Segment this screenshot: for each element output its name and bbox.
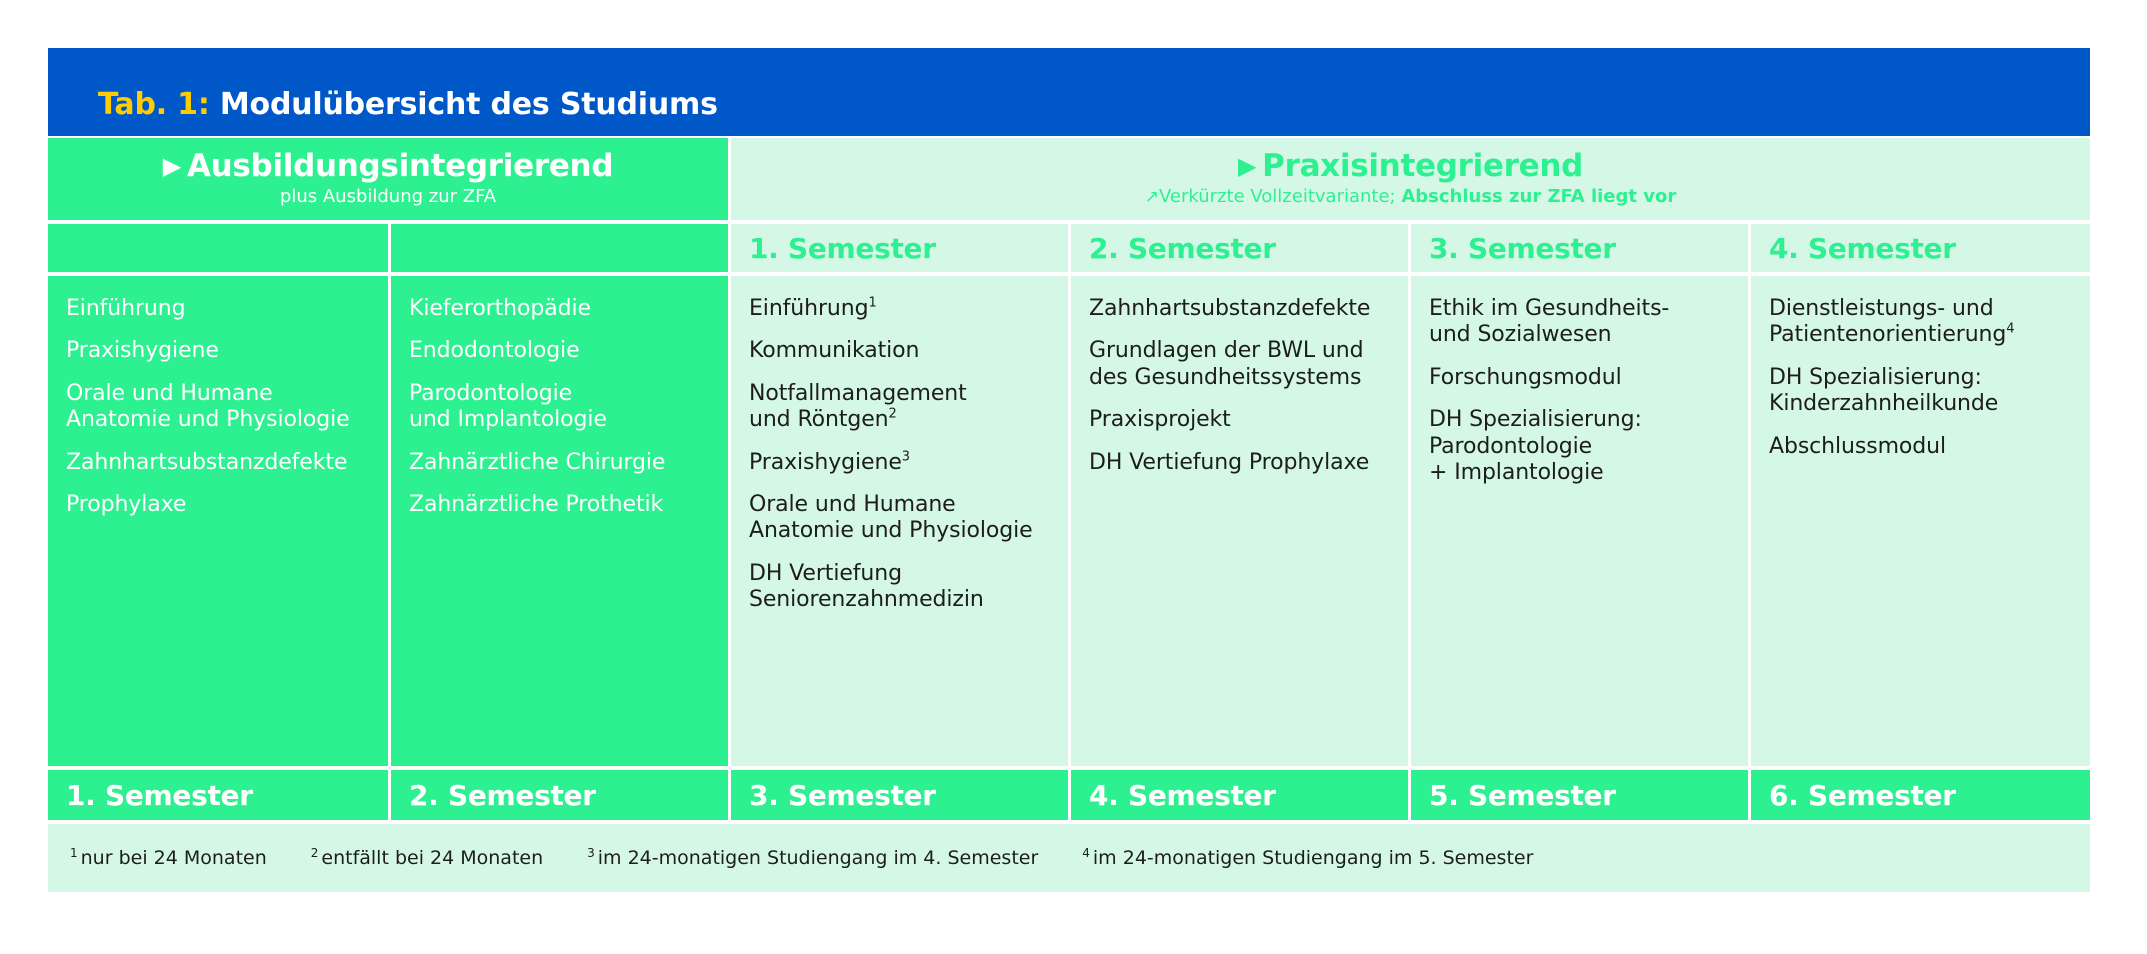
branch-right-subtitle: ↗Verkürzte Vollzeitvariante; Abschluss z… <box>1145 186 1676 208</box>
semester-header-bottom-4: 4. Semester <box>1068 770 1408 820</box>
arrow-northeast-icon: ↗ <box>1145 187 1159 207</box>
table-title-bar: Tab. 1: Modulübersicht des Studiums <box>48 48 2090 136</box>
module-column-5: Ethik im Gesundheits-und SozialwesenFors… <box>1408 276 1748 766</box>
module-item: DH Vertiefung Prophylaxe <box>1089 450 1390 476</box>
branch-left-title: ▶Ausbildungsintegrierend <box>163 150 613 183</box>
module-item: Zahnärztliche Prothetik <box>409 492 710 518</box>
semester-header-bottom-2: 2. Semester <box>388 770 728 820</box>
module-item: Orale und HumaneAnatomie und Physiologie <box>749 492 1050 545</box>
module-item: Kieferorthopädie <box>409 296 710 322</box>
module-item: Einführung1 <box>749 296 1050 322</box>
module-item: Prophylaxe <box>66 492 370 518</box>
branch-ausbildungsintegrierend: ▶Ausbildungsintegrierend plus Ausbildung… <box>48 138 728 220</box>
module-item: DH Spezialisierung:Kinderzahnheilkunde <box>1769 365 2072 418</box>
semester-header-top-4: 2. Semester <box>1068 224 1408 272</box>
module-item: Grundlagen der BWL unddes Gesundheitssys… <box>1089 338 1390 391</box>
footnote-marker: 3 <box>902 449 910 464</box>
module-overview-table: Tab. 1: Modulübersicht des Studiums ▶Aus… <box>48 48 2090 892</box>
module-item: Dienstleistungs- undPatientenorientierun… <box>1769 296 2072 349</box>
semester-header-bottom-6: 6. Semester <box>1748 770 2090 820</box>
footnotes-bar: 1nur bei 24 Monaten2entfällt bei 24 Mona… <box>48 820 2090 892</box>
branch-left-subtitle: plus Ausbildung zur ZFA <box>280 186 496 208</box>
module-column-6: Dienstleistungs- undPatientenorientierun… <box>1748 276 2090 766</box>
footnote-marker: 4 <box>1082 846 1090 860</box>
footnote-1: 1nur bei 24 Monaten <box>70 847 267 869</box>
module-item: Abschlussmodul <box>1769 434 2072 460</box>
footnote-marker: 2 <box>889 407 897 422</box>
module-column-1: EinführungPraxishygieneOrale und HumaneA… <box>48 276 388 766</box>
triangle-right-icon: ▶ <box>1238 152 1256 180</box>
module-item: Ethik im Gesundheits-und Sozialwesen <box>1429 296 1730 349</box>
branch-right-title-text: Praxisintegrierend <box>1262 148 1583 184</box>
branch-right-subtitle-regular: Verkürzte Vollzeitvariante; <box>1159 186 1396 207</box>
semester-header-top-blank-1 <box>48 224 388 272</box>
module-item: Praxishygiene <box>66 338 370 364</box>
module-content-row: EinführungPraxishygieneOrale und HumaneA… <box>48 272 2090 766</box>
module-item: DH VertiefungSeniorenzahnmedizin <box>749 561 1050 614</box>
footnote-4: 4im 24-monatigen Studiengang im 5. Semes… <box>1082 847 1533 869</box>
semester-header-bottom-5: 5. Semester <box>1408 770 1748 820</box>
table-title-text: Modulübersicht des Studiums <box>220 87 718 122</box>
semester-header-bottom-3: 3. Semester <box>728 770 1068 820</box>
branch-left-title-text: Ausbildungsintegrierend <box>187 148 613 184</box>
semester-header-bottom-1: 1. Semester <box>48 770 388 820</box>
module-item: DH Spezialisierung:Parodontologie+ Impla… <box>1429 407 1730 486</box>
page-title: Tab. 1: Modulübersicht des Studiums <box>98 87 718 122</box>
semester-header-top-blank-2 <box>388 224 728 272</box>
triangle-right-icon: ▶ <box>163 152 181 180</box>
module-item: Einführung <box>66 296 370 322</box>
semester-header-row-top: 1. Semester2. Semester3. Semester4. Seme… <box>48 220 2090 272</box>
module-column-2: KieferorthopädieEndodontologieParodontol… <box>388 276 728 766</box>
footnote-marker: 2 <box>311 846 319 860</box>
module-item: Notfallmanagementund Röntgen2 <box>749 381 1050 434</box>
footnote-2: 2entfällt bei 24 Monaten <box>311 847 543 869</box>
branch-right-title: ▶Praxisintegrierend <box>1238 150 1583 183</box>
module-item: Praxisprojekt <box>1089 407 1390 433</box>
module-item: Zahnärztliche Chirurgie <box>409 450 710 476</box>
footnote-3: 3im 24-monatigen Studiengang im 4. Semes… <box>587 847 1038 869</box>
module-item: Orale und HumaneAnatomie und Physiologie <box>66 381 370 434</box>
footnote-marker: 1 <box>869 296 877 311</box>
footnote-marker: 4 <box>2006 322 2014 337</box>
semester-header-row-bottom: 1. Semester2. Semester3. Semester4. Seme… <box>48 766 2090 820</box>
module-item: Forschungsmodul <box>1429 365 1730 391</box>
module-column-4: ZahnhartsubstanzdefekteGrundlagen der BW… <box>1068 276 1408 766</box>
module-item: Parodontologieund Implantologie <box>409 381 710 434</box>
branch-header-row: ▶Ausbildungsintegrierend plus Ausbildung… <box>48 136 2090 220</box>
branch-praxisintegrierend: ▶Praxisintegrierend ↗Verkürzte Vollzeitv… <box>728 138 2090 220</box>
table-number: Tab. 1: <box>98 87 210 122</box>
footnote-marker: 3 <box>587 846 595 860</box>
module-item: Kommunikation <box>749 338 1050 364</box>
semester-header-top-3: 1. Semester <box>728 224 1068 272</box>
module-item: Zahnhartsubstanzdefekte <box>66 450 370 476</box>
module-item: Zahnhartsubstanzdefekte <box>1089 296 1390 322</box>
module-item: Endodontologie <box>409 338 710 364</box>
semester-header-top-6: 4. Semester <box>1748 224 2090 272</box>
footnote-marker: 1 <box>70 846 78 860</box>
semester-header-top-5: 3. Semester <box>1408 224 1748 272</box>
module-column-3: Einführung1KommunikationNotfallmanagemen… <box>728 276 1068 766</box>
branch-right-subtitle-bold: Abschluss zur ZFA liegt vor <box>1401 186 1676 207</box>
module-item: Praxishygiene3 <box>749 450 1050 476</box>
